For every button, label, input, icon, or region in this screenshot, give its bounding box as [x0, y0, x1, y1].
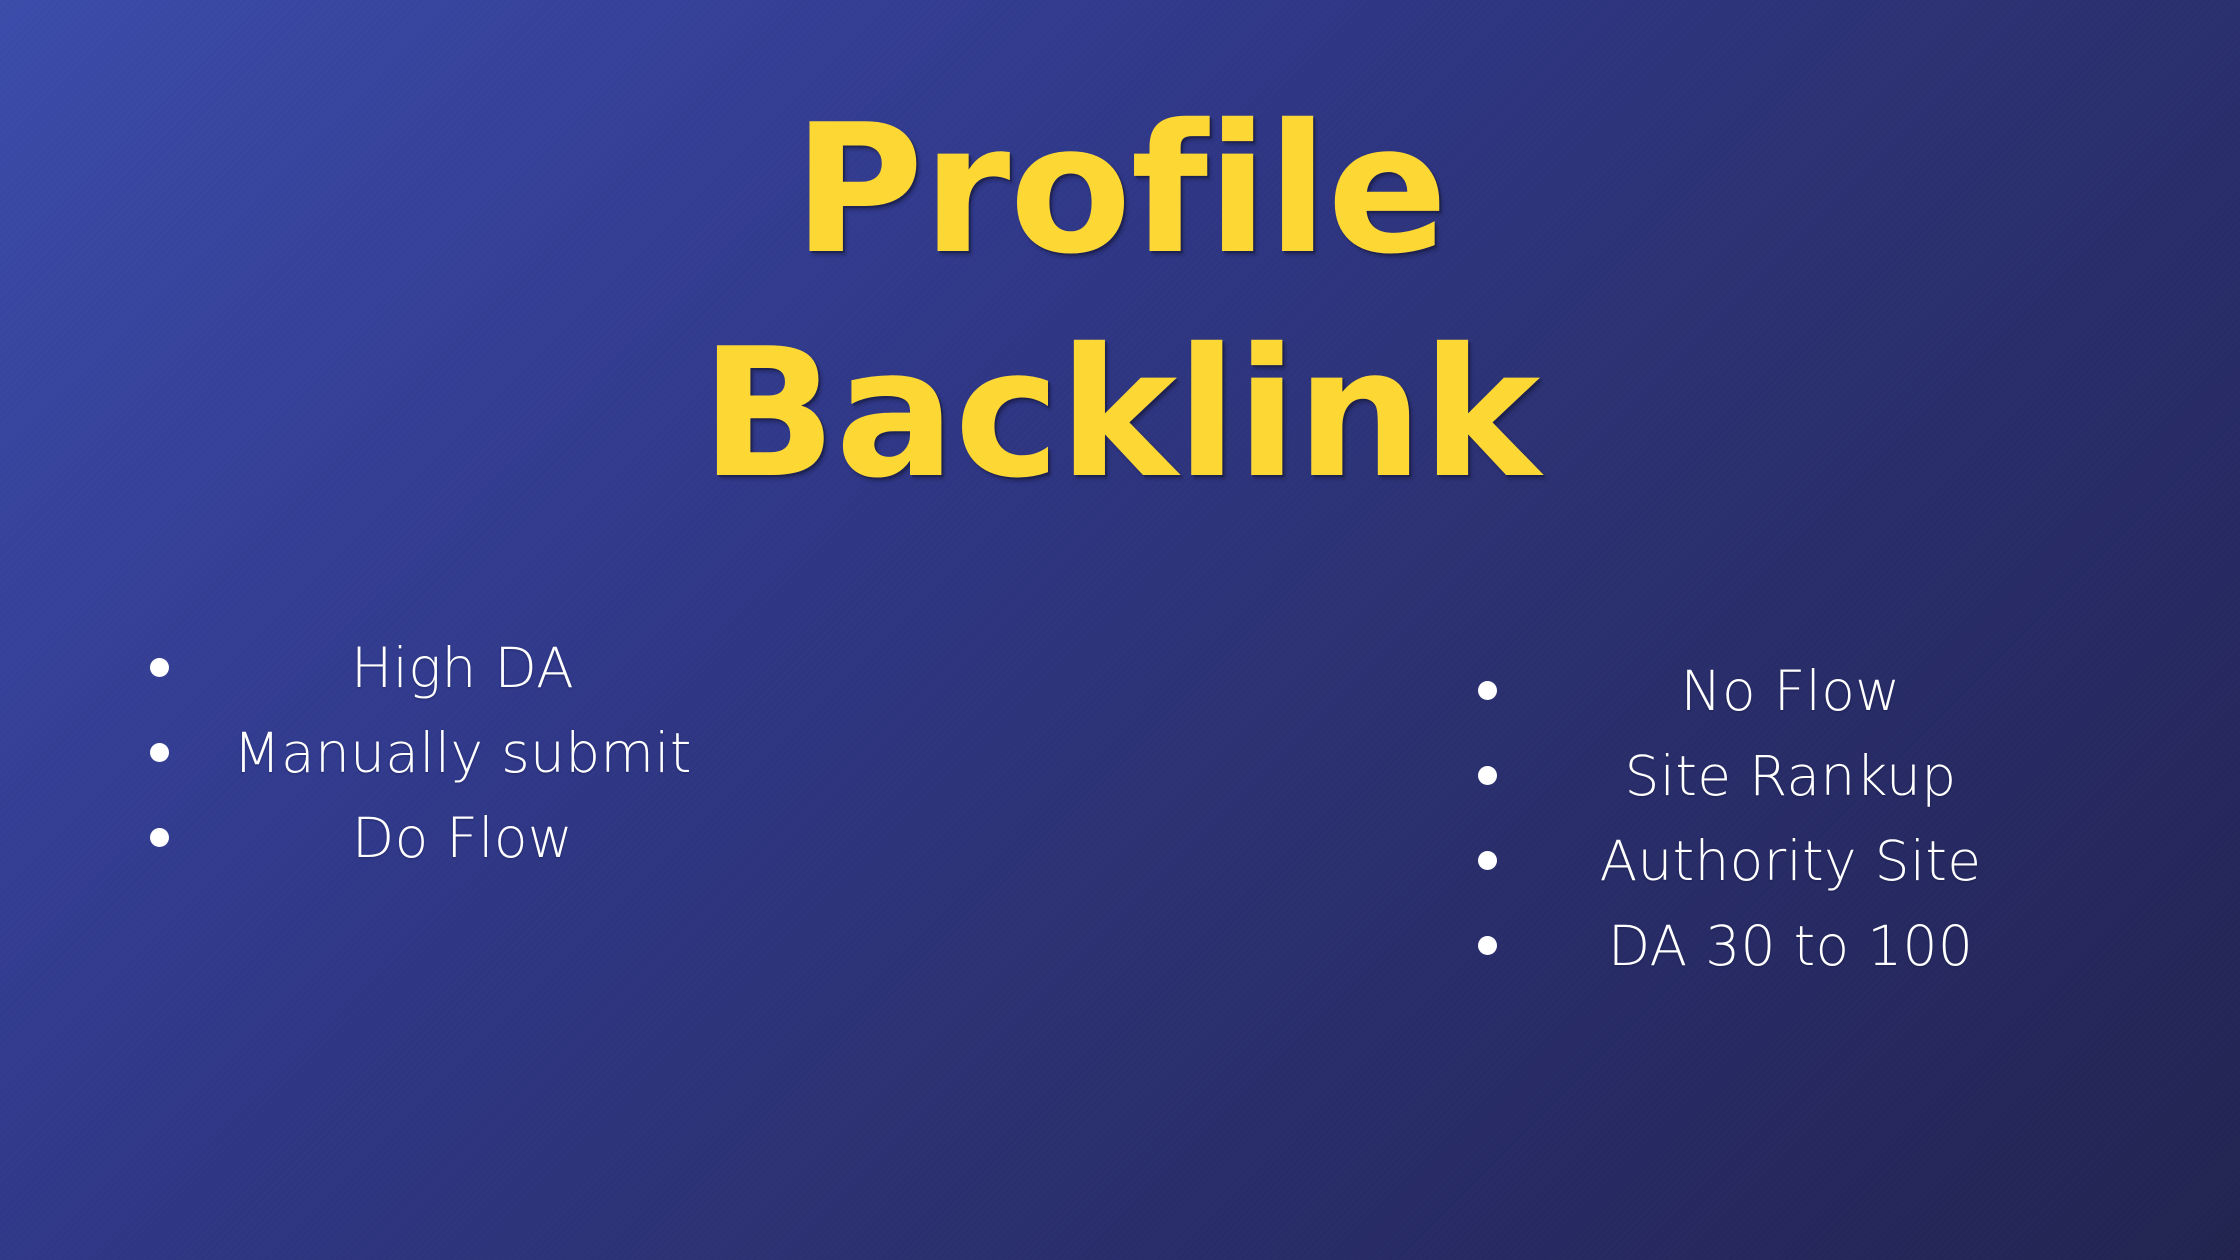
list-item: Authority Site [1478, 818, 2038, 903]
list-item-label: Manually submit [215, 721, 710, 785]
list-item-label: No Flow [1543, 659, 2038, 723]
title-line-2: Backlink [0, 302, 2240, 526]
list-item: Manually submit [150, 710, 710, 795]
title-line-1: Profile [0, 78, 2240, 302]
bullet-dot-icon [150, 743, 169, 762]
page-title: Profile Backlink [0, 78, 2240, 526]
list-item-label: High DA [215, 636, 710, 700]
list-item: DA 30 to 100 [1478, 903, 2038, 988]
list-item-label: Do Flow [215, 806, 710, 870]
bullet-dot-icon [1478, 936, 1497, 955]
list-item-label: Authority Site [1543, 829, 2038, 893]
bullet-dot-icon [150, 658, 169, 677]
bullet-list-right: No Flow Site Rankup Authority Site DA 30… [1478, 648, 2038, 988]
list-item-label: DA 30 to 100 [1543, 914, 2038, 978]
bullet-dot-icon [1478, 681, 1497, 700]
list-item: Do Flow [150, 795, 710, 880]
list-item-label: Site Rankup [1543, 744, 2038, 808]
slide-canvas: Profile Backlink High DA Manually submit… [0, 0, 2240, 1260]
list-item: No Flow [1478, 648, 2038, 733]
bullet-dot-icon [1478, 851, 1497, 870]
list-item: High DA [150, 625, 710, 710]
bullet-dot-icon [150, 828, 169, 847]
bullet-list-left: High DA Manually submit Do Flow [150, 625, 710, 880]
list-item: Site Rankup [1478, 733, 2038, 818]
bullet-dot-icon [1478, 766, 1497, 785]
